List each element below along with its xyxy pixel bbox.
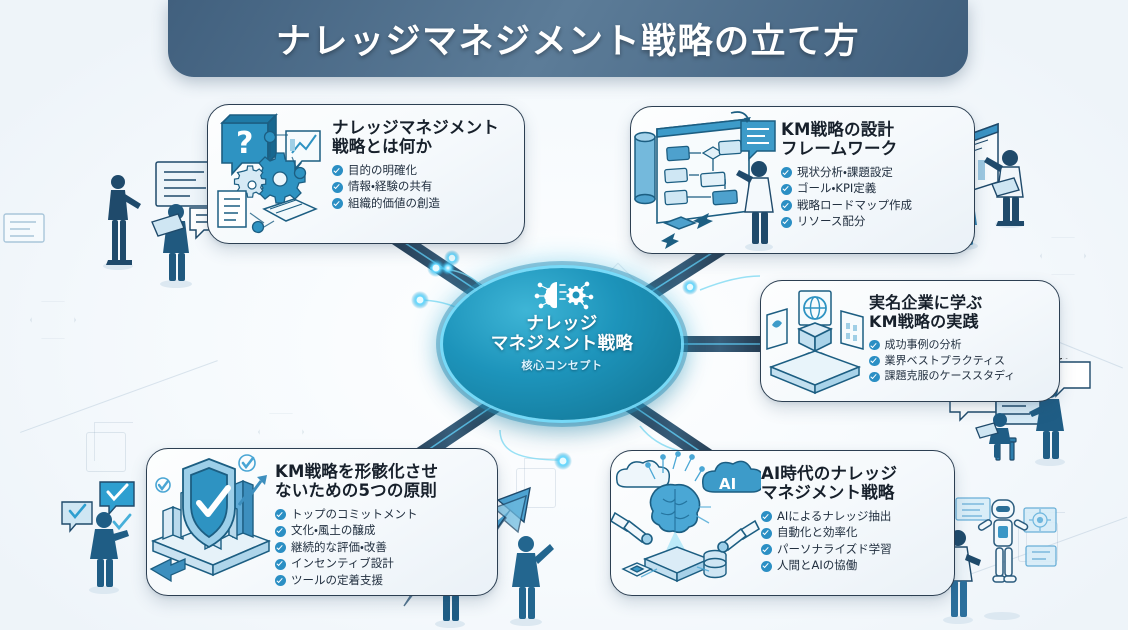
infographic-canvas: 事例A 事例B: [0, 0, 1128, 630]
card-title-ai-line2: マネジメント戦略: [761, 483, 895, 502]
check-icon: [761, 511, 772, 522]
card-title-principles-line2: ないための5つの原則: [275, 481, 437, 500]
bullet-text: 組織的価値の創造: [348, 196, 440, 212]
bullet-list-ai: AIによるナレッジ抽出 自動化と効率化 パーソナライズド学習 人間とAIの協働: [761, 509, 944, 574]
card-body-cases: 実名企業に学ぶ KM戦略の実践 成功事例の分析 業界ベストプラクティス 課題克服…: [869, 281, 1059, 385]
list-item: AIによるナレッジ抽出: [761, 509, 944, 525]
card-title-principles-line1: KM戦略を形骸化させ: [275, 462, 438, 481]
card-title-ai-line1: AI時代のナレッジ: [761, 464, 897, 483]
bullet-text: 課題克服のケーススタディ: [885, 369, 1016, 384]
bullet-text: トップのコミットメント: [291, 507, 418, 523]
check-icon: [332, 165, 343, 176]
check-icon: [869, 372, 880, 383]
bullet-list-cases: 成功事例の分析 業界ベストプラクティス 課題克服のケーススタディ: [869, 338, 1049, 385]
title-banner: ナレッジマネジメント戦略の立て方: [168, 0, 968, 77]
card-body-what: ナレッジマネジメント 戦略とは何か 目的の明確化 情報・経験の共有 組織的価値の…: [332, 105, 524, 212]
list-item: ツールの定着支援: [275, 573, 487, 589]
check-icon: [781, 167, 792, 178]
list-item: パーソナライズド学習: [761, 542, 944, 558]
svg-text:AI: AI: [719, 475, 736, 493]
check-icon: [761, 561, 772, 572]
card-art-design: [631, 107, 781, 253]
card-real-company-cases[interactable]: 実名企業に学ぶ KM戦略の実践 成功事例の分析 業界ベストプラクティス 課題克服…: [760, 280, 1060, 402]
card-title-design-line1: KM戦略の設計: [781, 120, 894, 139]
list-item: 継続的な評価・改善: [275, 540, 487, 556]
list-item: インセンティブ設計: [275, 556, 487, 572]
page-title: ナレッジマネジメント戦略の立て方: [276, 13, 860, 64]
handshake-globe-buildings-icon: [761, 281, 869, 401]
list-item: 情報・経験の共有: [332, 179, 514, 195]
bullet-text: 継続的な評価・改善: [291, 540, 387, 556]
bullet-text: AIによるナレッジ抽出: [777, 509, 891, 525]
shield-check-bar-chart-arrow-icon: [147, 449, 275, 595]
list-item: 課題克服のケーススタディ: [869, 369, 1049, 384]
bullet-text: 戦略ロードマップ作成: [797, 198, 912, 214]
card-body-principles: KM戦略を形骸化させ ないための5つの原則 トップのコミットメント 文化・風土の…: [275, 449, 497, 590]
hub-title-line2: マネジメント戦略: [491, 335, 633, 355]
card-art-cases: [761, 281, 869, 401]
list-item: 戦略ロードマップ作成: [781, 198, 964, 214]
card-design-framework[interactable]: KM戦略の設計 フレームワーク 現状分析・課題設定 ゴール・KPI定義 戦略ロー…: [630, 106, 975, 254]
list-item: ゴール・KPI定義: [781, 181, 964, 197]
flowchart-whiteboard-database-icon: [631, 107, 781, 253]
check-icon: [781, 200, 792, 211]
hub-title-line1: ナレッジ: [491, 315, 633, 335]
card-title-principles: KM戦略を形骸化させ ないための5つの原則: [275, 462, 487, 501]
list-item: 文化・風土の醸成: [275, 523, 487, 539]
card-title-cases: 実名企業に学ぶ KM戦略の実践: [869, 294, 1049, 332]
bullet-list-design: 現状分析・課題設定 ゴール・KPI定義 戦略ロードマップ作成 リソース配分: [781, 165, 964, 230]
card-what-is-km-strategy[interactable]: ?: [207, 104, 525, 244]
center-hub[interactable]: ナレッジ マネジメント戦略 核心コンセプト: [443, 268, 681, 420]
bullet-text: 現状分析・課題設定: [797, 165, 893, 181]
list-item: 目的の明確化: [332, 163, 514, 179]
card-body-design: KM戦略の設計 フレームワーク 現状分析・課題設定 ゴール・KPI定義 戦略ロー…: [781, 107, 974, 231]
check-icon: [781, 217, 792, 228]
list-item: 成功事例の分析: [869, 338, 1049, 353]
hub-title: ナレッジ マネジメント戦略: [491, 315, 633, 354]
card-title-what-line2: 戦略とは何か: [332, 137, 432, 156]
bullet-text: 業界ベストプラクティス: [885, 354, 1006, 369]
card-ai-era[interactable]: AI: [610, 450, 955, 596]
card-art-ai: AI: [611, 451, 761, 595]
check-icon: [275, 559, 286, 570]
bullet-text: ツールの定着支援: [291, 573, 383, 589]
card-body-ai: AI時代のナレッジ マネジメント戦略 AIによるナレッジ抽出 自動化と効率化 パ…: [761, 451, 954, 575]
list-item: 人間とAIの協働: [761, 558, 944, 574]
check-icon: [761, 528, 772, 539]
check-icon: [275, 575, 286, 586]
list-item: 組織的価値の創造: [332, 196, 514, 212]
bullet-text: パーソナライズド学習: [777, 542, 892, 558]
brain-robot-arm-cloud-ai-chip-icon: AI: [611, 451, 761, 595]
bullet-text: 自動化と効率化: [777, 525, 858, 541]
bullet-text: 情報・経験の共有: [348, 179, 432, 195]
brain-gear-network-icon: [529, 277, 595, 313]
list-item: 自動化と効率化: [761, 525, 944, 541]
bullet-text: 文化・風土の醸成: [291, 523, 375, 539]
check-icon: [869, 356, 880, 367]
svg-text:?: ?: [236, 126, 253, 161]
list-item: 業界ベストプラクティス: [869, 354, 1049, 369]
check-icon: [332, 198, 343, 209]
bullet-text: インセンティブ設計: [291, 556, 394, 572]
check-icon: [332, 182, 343, 193]
card-title-cases-line1: 実名企業に学ぶ: [869, 293, 982, 312]
list-item: トップのコミットメント: [275, 507, 487, 523]
card-art-principles: [147, 449, 275, 595]
bullet-text: 人間とAIの協働: [777, 558, 857, 574]
check-icon: [275, 542, 286, 553]
bullet-list-principles: トップのコミットメント 文化・風土の醸成 継続的な評価・改善 インセンティブ設計…: [275, 507, 487, 589]
card-title-cases-line2: KM戦略の実践: [869, 312, 979, 331]
check-icon: [275, 526, 286, 537]
hub-subtitle: 核心コンセプト: [521, 357, 602, 373]
card-title-what: ナレッジマネジメント 戦略とは何か: [332, 118, 514, 157]
card-five-principles[interactable]: KM戦略を形骸化させ ないための5つの原則 トップのコミットメント 文化・風土の…: [146, 448, 498, 596]
list-item: 現状分析・課題設定: [781, 165, 964, 181]
bullet-list-what: 目的の明確化 情報・経験の共有 組織的価値の創造: [332, 163, 514, 212]
check-icon: [275, 509, 286, 520]
bullet-text: 目的の明確化: [348, 163, 417, 179]
list-item: リソース配分: [781, 214, 964, 230]
card-title-what-line1: ナレッジマネジメント: [332, 118, 499, 137]
check-icon: [761, 544, 772, 555]
bullet-text: リソース配分: [797, 214, 865, 230]
card-art-what: ?: [208, 105, 332, 243]
card-title-design: KM戦略の設計 フレームワーク: [781, 120, 964, 159]
card-title-design-line2: フレームワーク: [781, 139, 897, 158]
check-icon: [781, 184, 792, 195]
check-icon: [869, 340, 880, 351]
card-title-ai: AI時代のナレッジ マネジメント戦略: [761, 464, 944, 503]
question-mark-speech-gears-document-network-icon: ?: [208, 105, 332, 243]
bullet-text: 成功事例の分析: [885, 338, 962, 353]
bullet-text: ゴール・KPI定義: [797, 181, 876, 197]
